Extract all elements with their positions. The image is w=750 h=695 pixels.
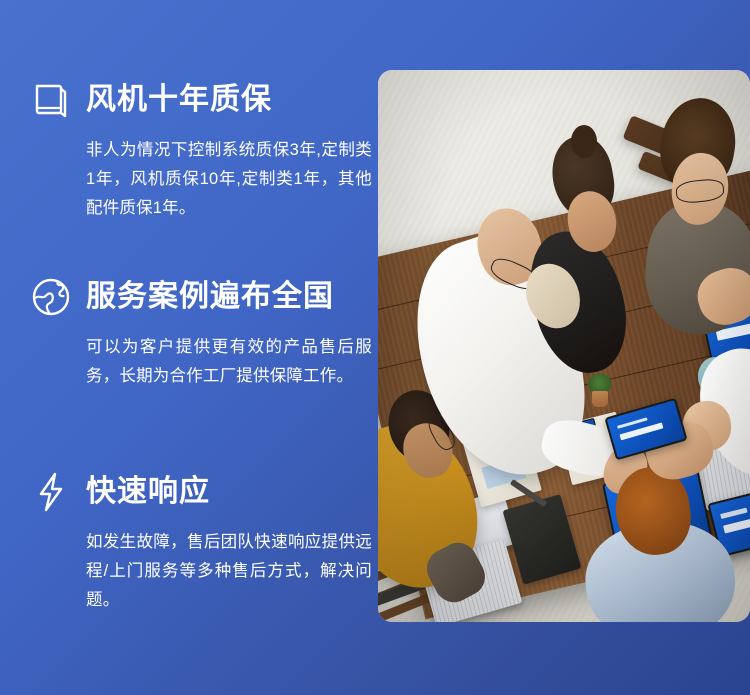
feature-list: 风机十年质保 非人为情况下控制系统质保3年,定制类1年，风机质保10年,定制类1… — [0, 0, 378, 695]
feature-description: 可以为客户提供更有效的产品售后服务，长期为合作工厂提供保障工作。 — [86, 333, 372, 391]
feature-description: 非人为情况下控制系统质保3年,定制类1年，风机质保10年,定制类1年，其他配件质… — [86, 136, 372, 223]
lightning-bolt-icon — [30, 471, 72, 513]
feature-item-warranty: 风机十年质保 非人为情况下控制系统质保3年,定制类1年，风机质保10年,定制类1… — [30, 78, 378, 223]
feature-item-fast-response: 快速响应 如发生故障，售后团队快速响应提供远程/上门服务等多种售后方式，解决问题… — [30, 470, 378, 615]
feature-title: 服务案例遍布全国 — [86, 282, 334, 312]
feature-header: 服务案例遍布全国 — [30, 275, 378, 319]
potted-plant — [586, 374, 612, 407]
feature-header: 风机十年质保 — [30, 78, 378, 122]
globe-icon — [30, 276, 72, 318]
feature-header: 快速响应 — [30, 470, 378, 514]
team-meeting-photo — [378, 70, 750, 622]
book-icon — [30, 79, 72, 121]
feature-title: 风机十年质保 — [86, 85, 272, 115]
promo-poster: 风机十年质保 非人为情况下控制系统质保3年,定制类1年，风机质保10年,定制类1… — [0, 0, 750, 695]
photo-content — [378, 70, 750, 622]
feature-item-nationwide-cases: 服务案例遍布全国 可以为客户提供更有效的产品售后服务，长期为合作工厂提供保障工作… — [30, 275, 378, 391]
feature-description: 如发生故障，售后团队快速响应提供远程/上门服务等多种售后方式，解决问题。 — [86, 528, 372, 615]
feature-title: 快速响应 — [86, 477, 210, 507]
